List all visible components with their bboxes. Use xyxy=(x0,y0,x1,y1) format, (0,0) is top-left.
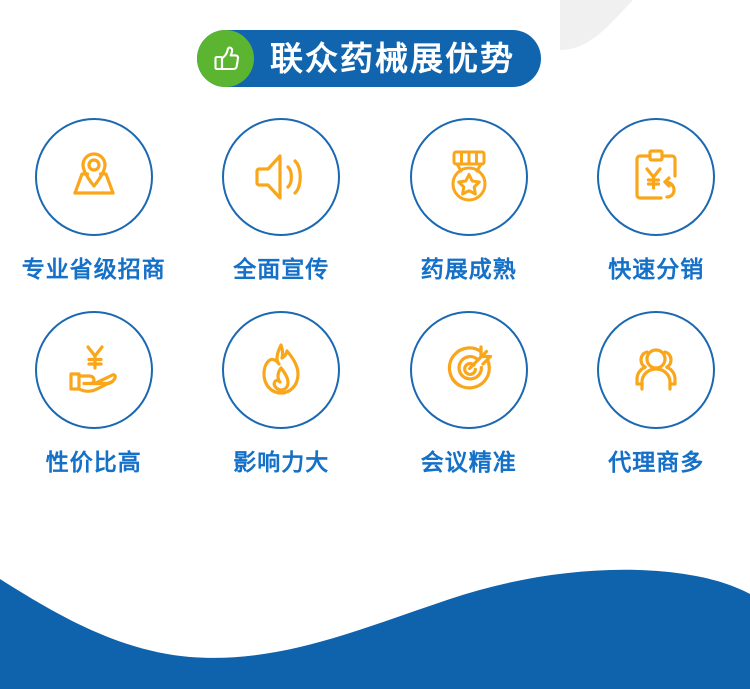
feature-icon-circle xyxy=(597,311,715,429)
badge-icon-circle xyxy=(197,30,254,87)
speaker-sound-icon xyxy=(246,142,316,212)
feature-icon-circle xyxy=(222,311,340,429)
feature-label: 会议精准 xyxy=(421,451,517,474)
feature-label: 专业省级招商 xyxy=(22,258,166,281)
thumbs-up-icon xyxy=(209,42,243,76)
feature-label: 性价比高 xyxy=(46,451,142,474)
map-location-pin-icon xyxy=(59,142,129,212)
target-arrow-icon xyxy=(434,335,504,405)
header-badge: 联众药械展优势 xyxy=(197,30,541,87)
feature-icon-circle xyxy=(410,118,528,236)
feature-label: 药展成熟 xyxy=(421,258,517,281)
feature-icon-circle xyxy=(35,118,153,236)
hand-holding-yuan-icon xyxy=(59,335,129,405)
feature-label: 代理商多 xyxy=(608,451,704,474)
feature-grid: 专业省级招商 全面宣传 xyxy=(0,118,750,474)
feature-label: 快速分销 xyxy=(608,258,704,281)
feature-icon-circle xyxy=(222,118,340,236)
feature-icon-circle xyxy=(597,118,715,236)
feature-item-medal[interactable]: 药展成熟 xyxy=(375,118,563,281)
feature-label: 全面宣传 xyxy=(233,258,329,281)
page-title: 联众药械展优势 xyxy=(270,42,515,75)
feature-item-targeting[interactable]: 会议精准 xyxy=(375,311,563,474)
people-group-icon xyxy=(621,335,691,405)
feature-item-influence[interactable]: 影响力大 xyxy=(188,311,376,474)
feature-item-agents[interactable]: 代理商多 xyxy=(563,311,750,474)
medal-star-icon xyxy=(434,142,504,212)
feature-icon-circle xyxy=(35,311,153,429)
feature-item-speaker[interactable]: 全面宣传 xyxy=(188,118,376,281)
feature-label: 影响力大 xyxy=(233,451,329,474)
top-wave-decoration xyxy=(560,0,750,50)
bottom-wave-decoration xyxy=(0,539,750,689)
feature-item-value[interactable]: 性价比高 xyxy=(0,311,188,474)
feature-icon-circle xyxy=(410,311,528,429)
feature-item-map[interactable]: 专业省级招商 xyxy=(0,118,188,281)
flame-icon xyxy=(246,335,316,405)
feature-item-distribution[interactable]: 快速分销 xyxy=(563,118,750,281)
promo-banner: 联众药械展优势 专业省级招商 xyxy=(0,0,750,689)
clipboard-yuan-return-icon xyxy=(621,142,691,212)
